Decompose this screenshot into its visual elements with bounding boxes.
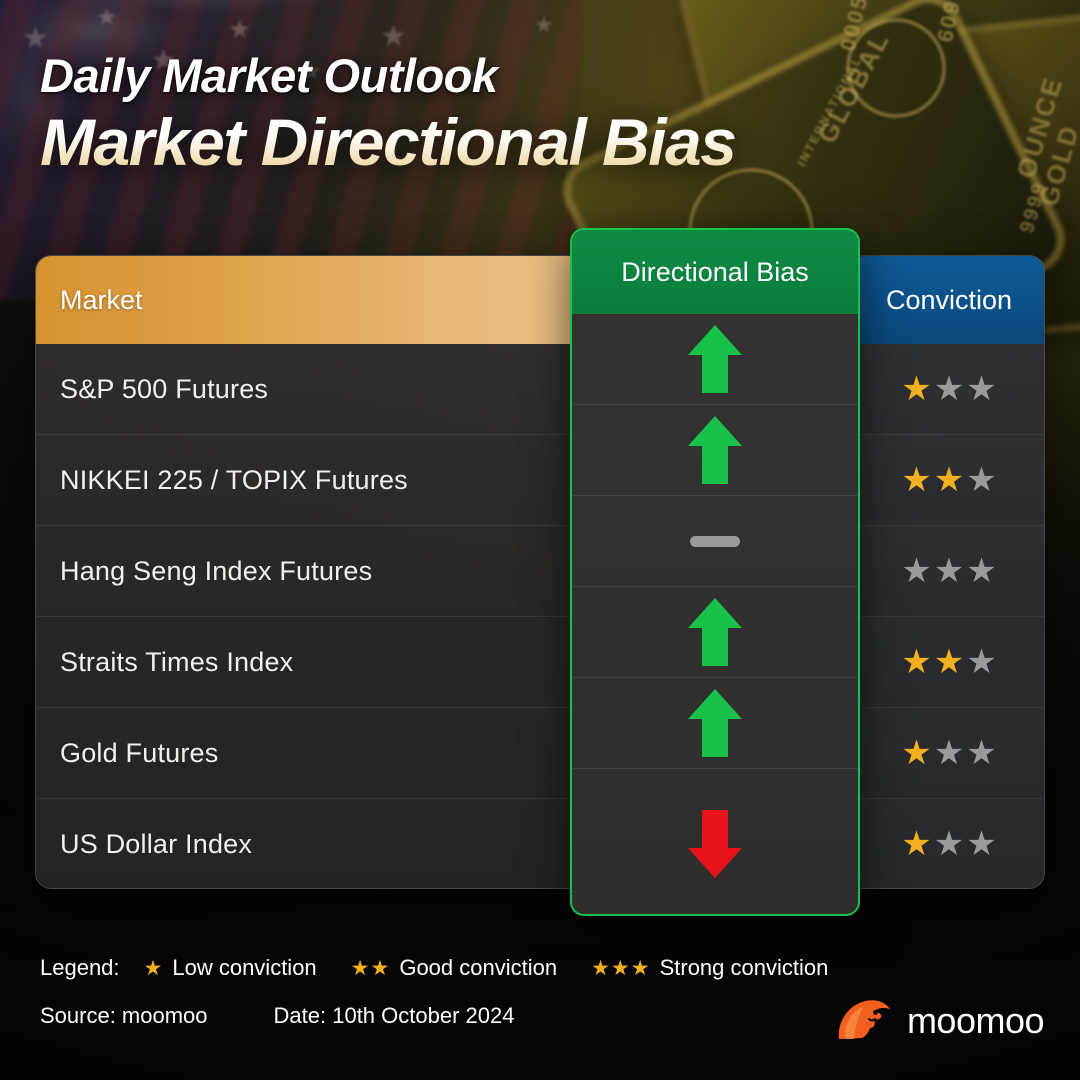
legend: Legend: ★Low conviction★★Good conviction… — [40, 955, 862, 981]
legend-item-label: Good conviction — [399, 955, 557, 981]
arrow-up-icon — [686, 323, 744, 395]
cell-market-name: Gold Futures — [36, 708, 600, 798]
market-name-label: Straits Times Index — [60, 647, 293, 678]
star-empty-icon: ★ — [966, 736, 996, 770]
cell-market-name: Straits Times Index — [36, 617, 600, 707]
arrow-up-icon — [686, 596, 744, 668]
column-header-conviction: Conviction — [854, 256, 1044, 344]
star-empty-icon: ★ — [934, 736, 964, 770]
star-empty-icon: ★ — [934, 372, 964, 406]
page-title: Market Directional Bias — [40, 109, 735, 175]
legend-item: ★★★Strong conviction — [591, 955, 828, 981]
table-row: Gold Futures★★★ — [36, 707, 1044, 798]
table-header-row: Market Conviction — [36, 256, 1044, 344]
arrow-up-icon — [686, 687, 744, 759]
cell-conviction: ★★★ — [854, 708, 1044, 798]
date-text: Date: 10th October 2024 — [274, 1003, 515, 1029]
star-filled-icon: ★ — [901, 645, 931, 679]
star-empty-icon: ★ — [966, 827, 996, 861]
legend-star-icon: ★★★ — [591, 958, 650, 979]
bias-row — [572, 404, 858, 495]
star-empty-icon: ★ — [934, 554, 964, 588]
star-empty-icon: ★ — [966, 554, 996, 588]
cell-conviction: ★★★ — [854, 435, 1044, 525]
star-empty-icon: ★ — [966, 645, 996, 679]
star-empty-icon: ★ — [966, 463, 996, 497]
column-header-market-label: Market — [60, 285, 143, 316]
star-filled-icon: ★ — [901, 463, 931, 497]
market-name-label: Hang Seng Index Futures — [60, 556, 372, 587]
cell-conviction: ★★★ — [854, 799, 1044, 889]
table-row: S&P 500 Futures★★★ — [36, 344, 1044, 434]
table-row: NIKKEI 225 / TOPIX Futures★★★ — [36, 434, 1044, 525]
brand-name: moomoo — [907, 1003, 1044, 1039]
star-empty-icon: ★ — [966, 372, 996, 406]
cell-market-name: S&P 500 Futures — [36, 344, 600, 434]
star-filled-icon: ★ — [901, 372, 931, 406]
star-empty-icon: ★ — [934, 827, 964, 861]
bias-row — [572, 768, 858, 916]
table-row: Straits Times Index★★★ — [36, 616, 1044, 707]
market-name-label: Gold Futures — [60, 738, 218, 769]
brand-lockup: moomoo — [835, 995, 1044, 1046]
directional-bias-panel: Directional Bias — [570, 228, 860, 916]
star-filled-icon: ★ — [901, 736, 931, 770]
bias-row — [572, 677, 858, 768]
bias-row — [572, 314, 858, 404]
cell-conviction: ★★★ — [854, 617, 1044, 707]
directional-bias-body — [572, 314, 858, 914]
column-header-conviction-label: Conviction — [886, 285, 1012, 316]
legend-item: ★★Good conviction — [351, 955, 557, 981]
legend-items: ★Low conviction★★Good conviction★★★Stron… — [144, 955, 863, 981]
table-row: Hang Seng Index Futures★★★ — [36, 525, 1044, 616]
column-header-directional-bias: Directional Bias — [572, 230, 858, 314]
source-text: Source: moomoo — [40, 1003, 208, 1029]
column-header-market: Market — [36, 256, 600, 344]
star-filled-icon: ★ — [934, 463, 964, 497]
star-filled-icon: ★ — [934, 645, 964, 679]
table-row: US Dollar Index★★★ — [36, 798, 1044, 889]
star-filled-icon: ★ — [901, 827, 931, 861]
column-header-directional-bias-label: Directional Bias — [621, 257, 809, 288]
cell-conviction: ★★★ — [854, 526, 1044, 616]
headline-eyebrow: Daily Market Outlook — [40, 52, 735, 99]
market-name-label: US Dollar Index — [60, 829, 252, 860]
legend-item-label: Strong conviction — [660, 955, 829, 981]
legend-item-label: Low conviction — [172, 955, 316, 981]
cell-conviction: ★★★ — [854, 344, 1044, 434]
legend-star-icon: ★ — [144, 958, 164, 979]
cell-market-name: Hang Seng Index Futures — [36, 526, 600, 616]
legend-item: ★Low conviction — [144, 955, 317, 981]
arrow-up-icon — [686, 414, 744, 486]
bias-row — [572, 495, 858, 586]
moomoo-bull-logo-icon — [835, 995, 893, 1046]
legend-star-icon: ★★ — [351, 958, 391, 979]
bias-row — [572, 586, 858, 677]
headline-block: Daily Market Outlook Market Directional … — [40, 52, 735, 175]
table-body: S&P 500 Futures★★★NIKKEI 225 / TOPIX Fut… — [36, 344, 1044, 889]
flat-dash-icon — [690, 536, 740, 547]
cell-market-name: US Dollar Index — [36, 799, 600, 889]
arrow-down-icon — [686, 808, 744, 880]
market-name-label: NIKKEI 225 / TOPIX Futures — [60, 465, 408, 496]
legend-label: Legend: — [40, 955, 120, 981]
cell-market-name: NIKKEI 225 / TOPIX Futures — [36, 435, 600, 525]
poster-canvas: ★ ★ ★ ★ ★ ★ ★ ★ GLOBALINTERNATIONALOUNCE… — [0, 0, 1080, 1080]
market-name-label: S&P 500 Futures — [60, 374, 268, 405]
footer: Source: moomoo Date: 10th October 2024 — [40, 1003, 514, 1029]
market-bias-table: Market Conviction S&P 500 Futures★★★NIKK… — [35, 255, 1045, 889]
star-empty-icon: ★ — [901, 554, 931, 588]
